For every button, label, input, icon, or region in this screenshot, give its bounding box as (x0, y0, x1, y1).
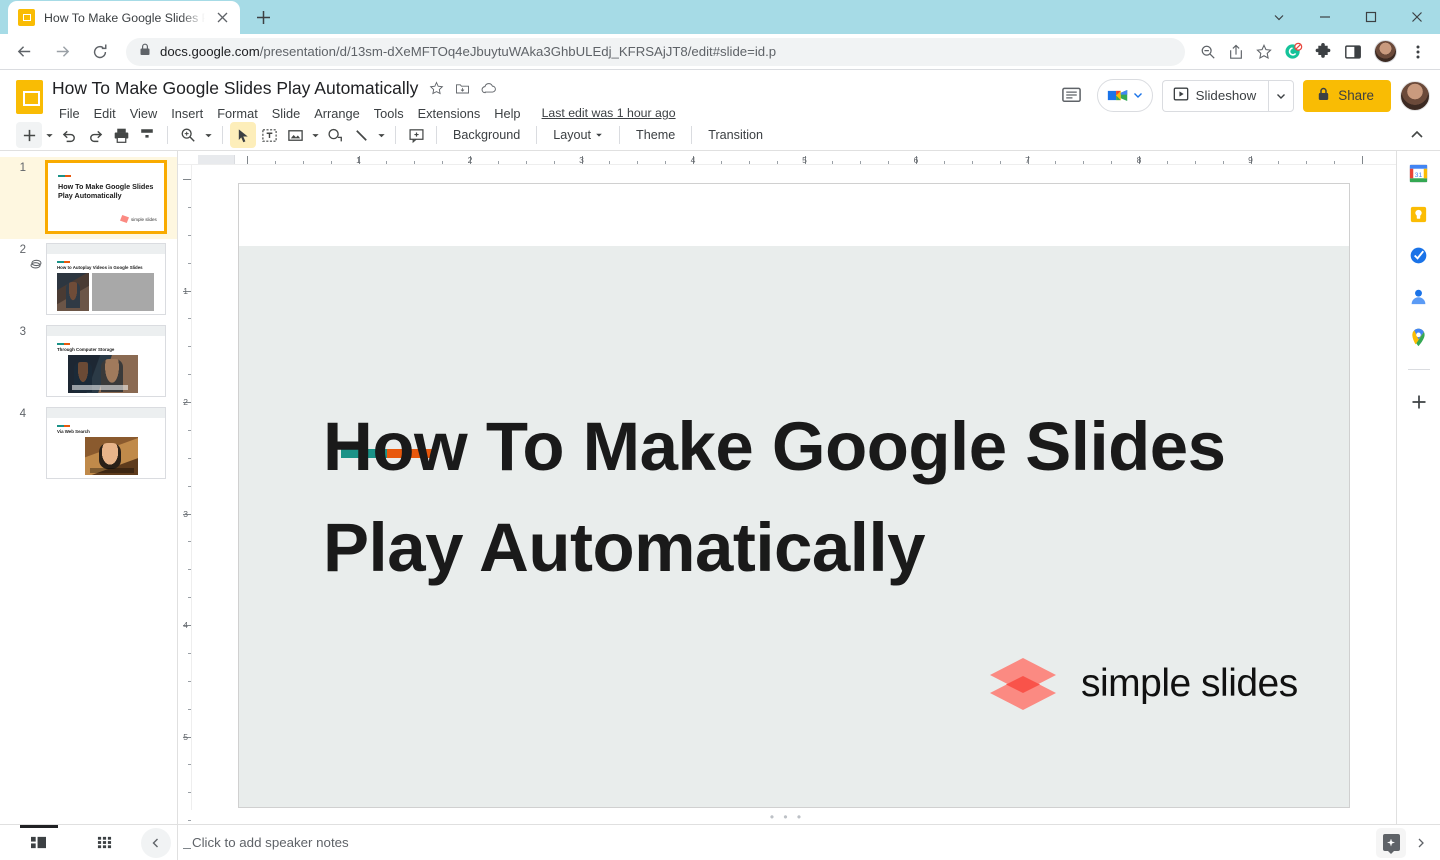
ruler-number: 2 (183, 397, 188, 407)
ruler-number: 4 (183, 620, 188, 630)
zoom-out-icon[interactable] (1195, 39, 1221, 65)
title-row: How To Make Google Slides Play Automatic… (52, 77, 1056, 100)
filmstrip-slide-2[interactable]: 2 How to Autoplay Videos in Google Slide… (0, 239, 177, 321)
slide-header-band (239, 184, 1349, 246)
slide-number: 4 (0, 407, 26, 420)
horizontal-ruler[interactable]: 123456789 (178, 151, 1396, 165)
toolbar-divider (691, 126, 692, 144)
ruler-tick (183, 848, 191, 849)
add-comment-icon[interactable] (403, 122, 429, 148)
ruler-tick (1167, 161, 1168, 164)
notes-drag-handle[interactable]: • • • (178, 810, 1396, 824)
three-dot-menu-icon[interactable] (1404, 38, 1432, 66)
slide-thumbnail[interactable]: How to Autoplay Videos in Google Slides (46, 243, 166, 315)
back-arrow-icon[interactable] (9, 37, 39, 67)
ruler-tick (188, 541, 191, 542)
ruler-number: 7 (1025, 155, 1030, 165)
bookmark-star-icon[interactable] (1251, 39, 1277, 65)
ruler-tick (188, 346, 191, 347)
ruler-tick (188, 681, 191, 682)
document-title[interactable]: How To Make Google Slides Play Automatic… (52, 78, 418, 99)
undo-icon[interactable] (56, 122, 82, 148)
ruler-tick (749, 161, 750, 164)
ruler-number: 5 (802, 155, 807, 165)
toolbar-divider (619, 126, 620, 144)
grammarly-icon[interactable] (1279, 38, 1307, 66)
thumbnail-photo (57, 273, 89, 311)
ruler-number: 6 (914, 155, 919, 165)
slideshow-dropdown-caret[interactable] (1268, 80, 1294, 112)
google-tasks-icon[interactable] (1407, 243, 1431, 267)
comment-history-icon[interactable] (1056, 80, 1088, 112)
redo-icon[interactable] (82, 122, 108, 148)
ruler-tick (1278, 161, 1279, 164)
ruler-tick (1111, 161, 1112, 164)
simple-slides-logo-word: simple slides (1081, 662, 1298, 706)
ruler-tick (777, 161, 778, 164)
slide-transition-marker-icon[interactable] (29, 243, 43, 276)
ruler-number: 5 (183, 732, 188, 742)
ruler-tick (275, 161, 276, 164)
ruler-tick (188, 569, 191, 570)
ruler-track: 123456789 (234, 155, 1396, 164)
canvas-wrapper: How To Make Google Slides Play Automatic… (192, 165, 1396, 810)
google-calendar-icon[interactable]: 31 (1407, 161, 1431, 185)
filmstrip-slide-4[interactable]: 4 Via Web Search (0, 403, 177, 485)
ruler-tick (1195, 161, 1196, 164)
ruler-tick (526, 161, 527, 164)
ruler-tick (188, 653, 191, 654)
ruler-tick (1223, 161, 1224, 164)
line-icon[interactable] (348, 122, 374, 148)
google-slides-app: How To Make Google Slides Play Automatic… (0, 70, 1440, 860)
move-to-folder-icon[interactable] (455, 81, 470, 96)
ruler-tick (944, 161, 945, 164)
thumbnail-photo (85, 437, 138, 475)
slideshow-button[interactable]: Slideshow (1162, 80, 1269, 112)
shape-icon[interactable] (322, 122, 348, 148)
thumbnail-placeholder (92, 273, 154, 311)
google-slides-logo[interactable] (12, 77, 46, 121)
share-button[interactable]: Share (1303, 80, 1391, 112)
header-actions: Slideshow Share (1056, 77, 1430, 112)
chevron-down-icon[interactable] (1256, 0, 1302, 34)
window-controls (1256, 0, 1440, 34)
simple-slides-logo-word: simple slides (131, 217, 157, 222)
url-text: docs.google.com/presentation/d/13sm-dXeM… (160, 44, 776, 59)
lock-icon (1317, 87, 1330, 104)
present-icon (1173, 86, 1189, 105)
ruler-tick (188, 235, 191, 236)
slide-marker-placeholder (29, 407, 43, 421)
active-slide-canvas[interactable]: How To Make Google Slides Play Automatic… (238, 183, 1350, 808)
slide-thumbnail[interactable]: How To Make Google Slides Play Automatic… (46, 161, 166, 233)
ruler-tick (188, 709, 191, 710)
image-caret-icon[interactable] (308, 122, 322, 148)
plus-icon[interactable] (16, 122, 42, 148)
tab-title: How To Make Google Slides Play (44, 11, 205, 25)
canvas-row: 12345 How To Make Google Slides Play Aut… (178, 165, 1396, 810)
zoom-icon[interactable] (175, 122, 201, 148)
new-tab-button[interactable] (249, 3, 277, 31)
ruler-tick (1334, 161, 1335, 164)
lock-icon (139, 43, 151, 61)
ruler-tick (188, 597, 191, 598)
ruler-tick (188, 486, 191, 487)
minimize-icon[interactable] (1302, 0, 1348, 34)
ruler-tick (609, 161, 610, 164)
ruler-tick (188, 458, 191, 459)
slide-thumbnail[interactable]: Via Web Search (46, 407, 166, 479)
new-slide-caret-icon[interactable] (42, 122, 56, 148)
ruler-tick (498, 161, 499, 164)
slideshow-control: Slideshow (1162, 80, 1295, 112)
chevron-left-icon[interactable] (141, 828, 171, 858)
simple-slides-logo-mark (120, 215, 129, 223)
ruler-tick (188, 318, 191, 319)
ruler-number: 3 (183, 509, 188, 519)
thumbnail-title: Through Computer Storage (57, 347, 157, 352)
ruler-number: 9 (1248, 155, 1253, 165)
slide-editor-area: 123456789 12345 How To Make Google Slide… (178, 151, 1396, 824)
filmstrip-slide-3[interactable]: 3 Through Computer Storage (0, 321, 177, 403)
chevron-right-icon[interactable] (1412, 837, 1430, 849)
user-avatar[interactable] (1400, 81, 1430, 111)
simple-slides-logo-mark (987, 655, 1059, 713)
browser-toolbar: docs.google.com/presentation/d/13sm-dXeM… (0, 34, 1440, 70)
background-button[interactable]: Background (444, 124, 529, 146)
layout-label: Layout (553, 128, 591, 142)
browser-tab-strip: How To Make Google Slides Play (0, 0, 1440, 34)
puzzle-extensions-icon[interactable] (1309, 38, 1337, 66)
explore-icon[interactable] (1376, 828, 1406, 858)
ruler-tick (188, 430, 191, 431)
editor-body: 1 How To Make Google Slides Play Automat… (0, 150, 1440, 824)
theme-button[interactable]: Theme (627, 124, 684, 146)
ruler-tick (188, 792, 191, 793)
filmstrip-slide-1[interactable]: 1 How To Make Google Slides Play Automat… (0, 157, 177, 239)
layout-button[interactable]: Layout (544, 124, 612, 146)
ruler-tick (303, 161, 304, 164)
ruler-tick (247, 156, 248, 164)
toolbar-divider (436, 126, 437, 144)
slide-logo[interactable]: simple slides (987, 655, 1298, 713)
grid-view-icon[interactable] (72, 825, 138, 860)
share-label: Share (1338, 88, 1374, 103)
url-path: /presentation/d/13sm-dXeMFTOq4eJbuytuWAk… (260, 44, 776, 59)
ruler-tick (188, 820, 191, 821)
slide-marker-placeholder (29, 161, 43, 175)
ruler-tick (331, 161, 332, 164)
close-icon[interactable] (214, 10, 230, 26)
ruler-tick (665, 161, 666, 164)
cloud-saved-icon[interactable] (481, 81, 497, 96)
ruler-tick (860, 161, 861, 164)
vertical-ruler[interactable]: 12345 (178, 165, 192, 810)
ruler-tick (832, 161, 833, 164)
add-ons-plus-icon[interactable] (1407, 390, 1431, 414)
slide-title-text[interactable]: How To Make Google Slides Play Automatic… (323, 396, 1273, 599)
chevron-down-icon (1133, 87, 1143, 105)
ruler-tick (188, 764, 191, 765)
toolbar-divider (536, 126, 537, 144)
paint-format-icon[interactable] (134, 122, 160, 148)
ruler-number: 2 (468, 155, 473, 165)
close-icon[interactable] (1394, 0, 1440, 34)
share-link-icon[interactable] (1223, 39, 1249, 65)
side-panel-icon[interactable] (1339, 38, 1367, 66)
print-icon[interactable] (108, 122, 134, 148)
ruler-number: 4 (691, 155, 696, 165)
zoom-caret-icon[interactable] (201, 122, 215, 148)
ruler-tick (1055, 161, 1056, 164)
slideshow-label: Slideshow (1196, 88, 1257, 103)
browser-tab[interactable]: How To Make Google Slides Play (8, 1, 240, 34)
ruler-tick (888, 161, 889, 164)
google-apps-side-rail: 31 (1396, 151, 1440, 824)
thumbnail-title: How To Make Google Slides Play Automatic… (58, 183, 160, 200)
ruler-tick (1000, 161, 1001, 164)
slide-filmstrip[interactable]: 1 How To Make Google Slides Play Automat… (0, 151, 178, 824)
rail-divider (1408, 369, 1430, 370)
toolbar-divider (222, 126, 223, 144)
ruler-tick (442, 161, 443, 164)
ruler-pad (198, 155, 234, 164)
slides-toolbar: Background Layout Theme Transition (0, 120, 1440, 150)
bottom-right-actions (1366, 825, 1440, 860)
ruler-tick (414, 161, 415, 164)
ruler-tick (554, 161, 555, 164)
ruler-number: 8 (1137, 155, 1142, 165)
profile-avatar[interactable] (1374, 40, 1397, 63)
ruler-tick (188, 374, 191, 375)
google-contacts-icon[interactable] (1407, 284, 1431, 308)
ruler-tick (1083, 161, 1084, 164)
svg-text:31: 31 (1415, 171, 1423, 178)
ruler-tick (721, 161, 722, 164)
google-meet-icon (1106, 87, 1130, 104)
ruler-number: 1 (356, 155, 361, 165)
text-box-icon[interactable] (256, 122, 282, 148)
ruler-tick (1362, 156, 1363, 164)
url-host: docs.google.com (160, 44, 260, 59)
ruler-tick (183, 179, 191, 180)
address-bar[interactable]: docs.google.com/presentation/d/13sm-dXeM… (126, 38, 1185, 66)
ruler-tick (972, 161, 973, 164)
slide-number: 2 (0, 243, 26, 256)
view-switcher (0, 825, 178, 860)
line-caret-icon[interactable] (374, 122, 388, 148)
cursor-select-icon[interactable] (230, 122, 256, 148)
ruler-number: 1 (183, 286, 188, 296)
slide-number: 3 (0, 325, 26, 338)
toolbar-divider (395, 126, 396, 144)
forward-arrow-icon[interactable] (47, 37, 77, 67)
thumbnail-title: Via Web Search (57, 429, 157, 434)
transition-button[interactable]: Transition (699, 124, 772, 146)
omnibox-actions (1195, 39, 1277, 65)
google-maps-icon[interactable] (1407, 325, 1431, 349)
ruler-tick (188, 207, 191, 208)
thumbnail-title: How to Autoplay Videos in Google Slides (57, 265, 157, 270)
google-meet-button[interactable] (1097, 79, 1153, 112)
google-keep-icon[interactable] (1407, 202, 1431, 226)
title-block: How To Make Google Slides Play Automatic… (46, 77, 1056, 124)
reload-icon[interactable] (85, 37, 115, 67)
thumbnail-photo (68, 355, 138, 393)
ruler-number: 3 (579, 155, 584, 165)
insert-image-icon[interactable] (282, 122, 308, 148)
filmstrip-view-icon[interactable] (6, 825, 72, 860)
slide-number: 1 (0, 161, 26, 174)
slide-thumbnail[interactable]: Through Computer Storage (46, 325, 166, 397)
toolbar-divider (167, 126, 168, 144)
chevron-down-icon (595, 128, 603, 142)
star-icon[interactable] (429, 81, 444, 96)
ruler-tick (637, 161, 638, 164)
speaker-notes-field[interactable]: Click to add speaker notes (178, 825, 1366, 860)
bottom-bar: Click to add speaker notes (0, 824, 1440, 860)
ruler-tick (188, 263, 191, 264)
collapse-toolbar-icon[interactable] (1404, 122, 1430, 148)
ruler-tick (1306, 161, 1307, 164)
slides-favicon (18, 9, 35, 26)
maximize-icon[interactable] (1348, 0, 1394, 34)
slide-marker-placeholder (29, 325, 43, 339)
ruler-tick (386, 161, 387, 164)
slides-header: How To Make Google Slides Play Automatic… (0, 70, 1440, 120)
last-edit-status[interactable]: Last edit was 1 hour ago (542, 106, 676, 120)
